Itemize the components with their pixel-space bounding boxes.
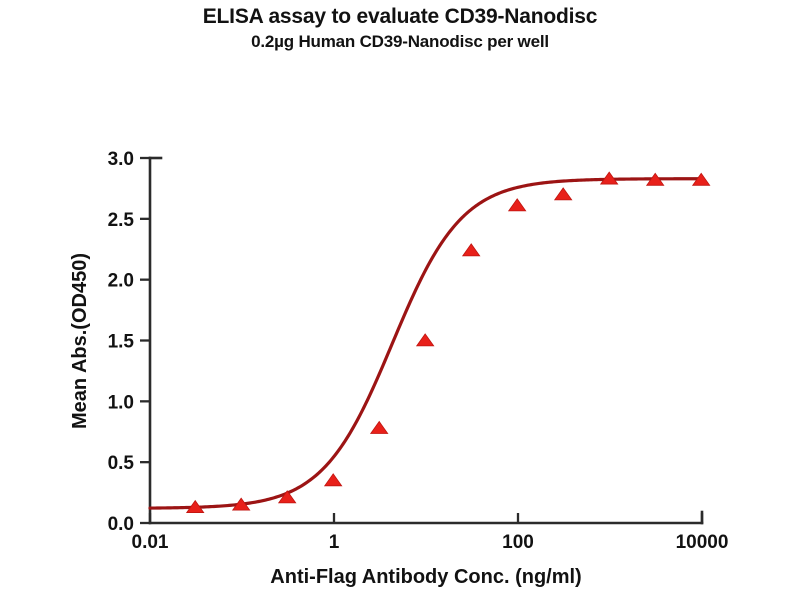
x-axis-title: Anti-Flag Antibody Conc. (ng/ml) [270,566,581,588]
y-tick-label-3: 1.5 [108,332,135,353]
x-tick-label-0: 0.01 [132,532,169,553]
data-point-8 [555,188,572,200]
x-tick-label-2: 100 [502,532,534,553]
y-tick-label-6: 3.0 [108,149,134,170]
y-axis-title: Mean Abs.(OD450) [69,253,91,429]
y-tick-label-4: 2.0 [108,271,134,292]
y-tick-group: 0.00.51.01.52.02.53.0 [108,149,150,535]
data-point-group [187,172,710,513]
x-tick-label-1: 1 [329,532,340,553]
x-tick-label-3: 10000 [676,532,729,553]
y-tick-label-1: 0.5 [108,453,135,474]
data-point-4 [371,422,388,434]
y-tick-label-5: 2.5 [108,210,135,231]
x-tick-group: 0.01110010000 [132,513,729,553]
y-tick-label-2: 1.0 [108,392,134,413]
data-point-6 [463,244,480,256]
data-point-5 [417,334,434,346]
elisa-chart-figure: ELISA assay to evaluate CD39-Nanodisc 0.… [0,0,800,600]
data-point-3 [325,474,342,486]
data-point-7 [509,199,526,211]
y-tick-label-0: 0.0 [108,514,134,535]
plot-area: 0.00.51.01.52.02.53.0 0.01110010000 Mean… [0,0,800,600]
